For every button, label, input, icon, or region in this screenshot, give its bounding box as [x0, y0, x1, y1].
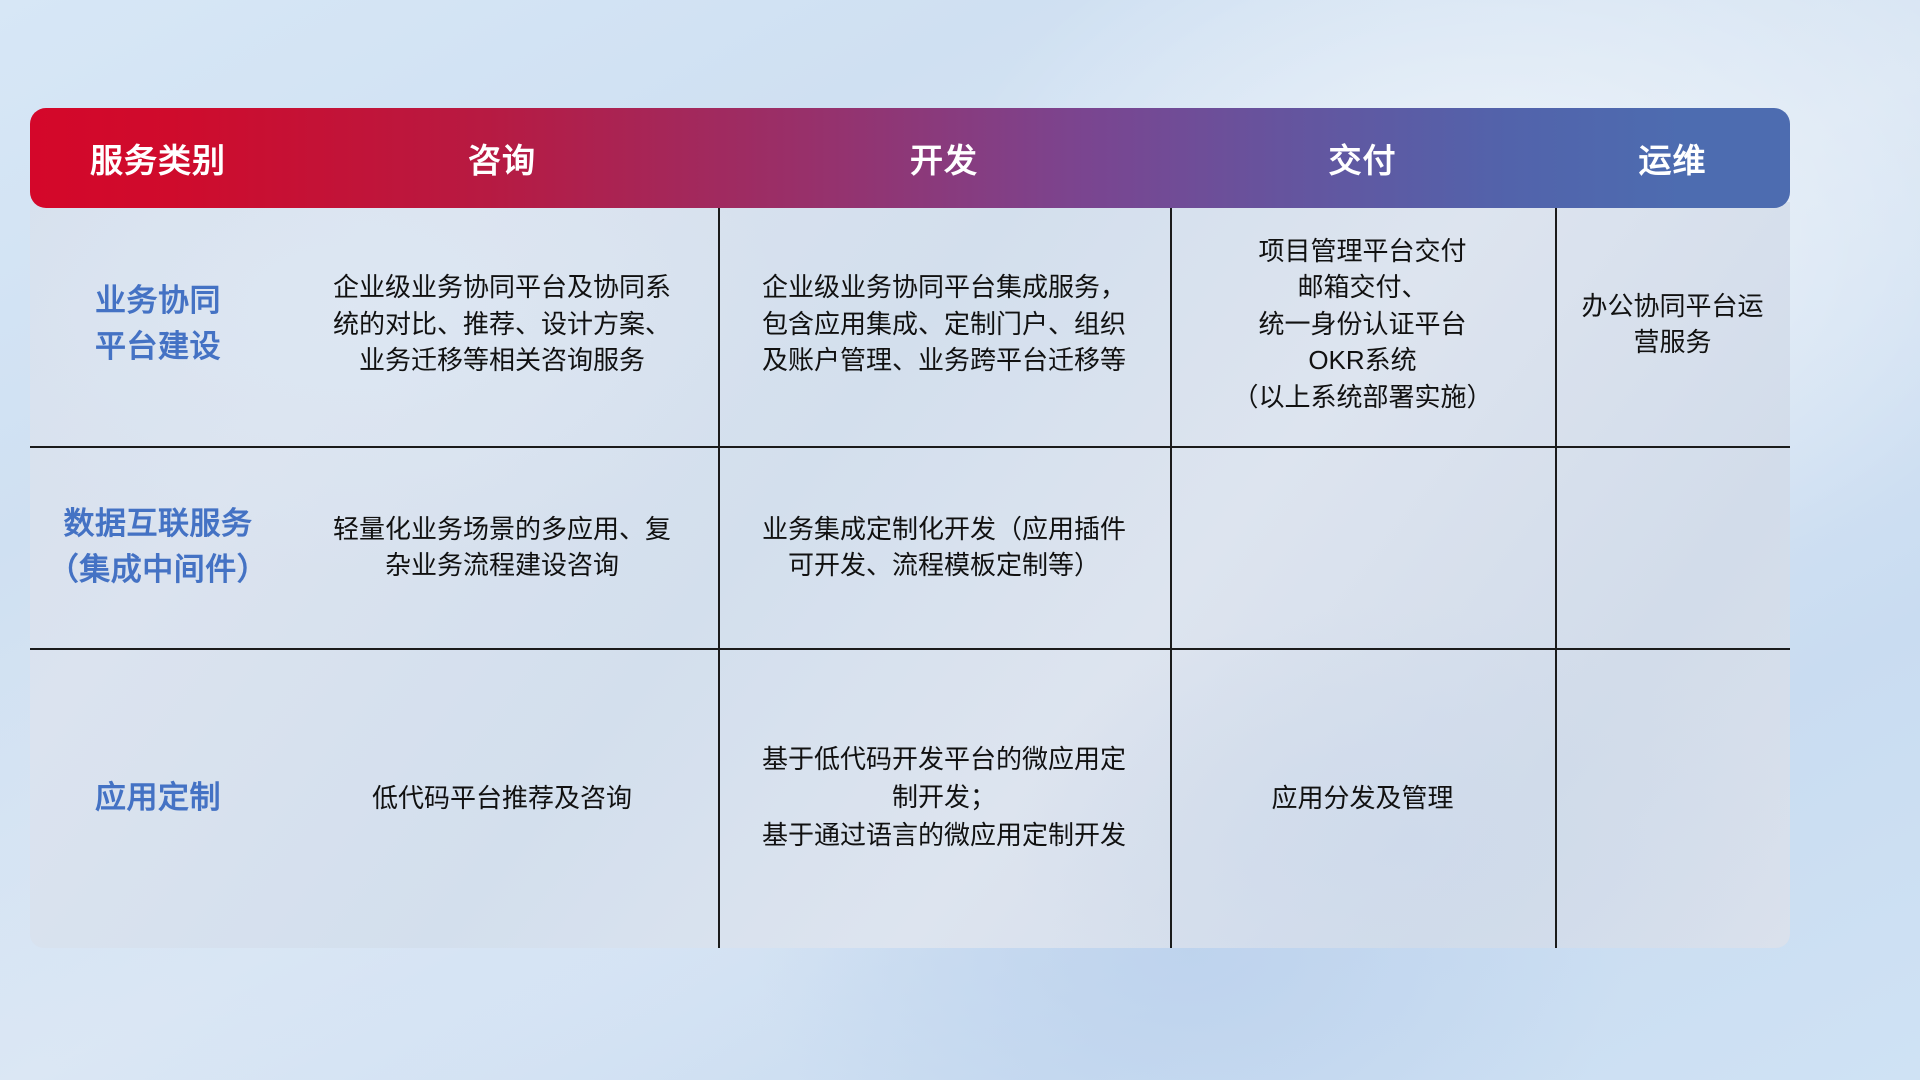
- cell-text: 低代码平台推荐及咨询: [372, 780, 632, 816]
- column-header-consulting: 咨询: [286, 134, 718, 182]
- row-category-label: 数据互联服务 （集成中间件）: [30, 446, 286, 648]
- cell-operations: [1555, 648, 1790, 948]
- cell-text: 应用分发及管理: [1271, 780, 1453, 816]
- cell-delivery: 项目管理平台交付 邮箱交付、 统一身份认证平台 OKR系统 （以上系统部署实施）: [1170, 202, 1555, 446]
- row-category-text: 数据互联服务 （集成中间件）: [48, 501, 269, 593]
- cell-text: 轻量化业务场景的多应用、复 杂业务流程建设咨询: [333, 511, 671, 584]
- table-row: 数据互联服务 （集成中间件） 轻量化业务场景的多应用、复 杂业务流程建设咨询 业…: [30, 446, 1790, 648]
- column-header-operations: 运维: [1555, 134, 1790, 182]
- cell-text: 基于低代码开发平台的微应用定 制开发； 基于通过语言的微应用定制开发: [762, 741, 1126, 855]
- table-row: 应用定制 低代码平台推荐及咨询 基于低代码开发平台的微应用定 制开发； 基于通过…: [30, 648, 1790, 948]
- cell-operations: [1555, 446, 1790, 648]
- column-header-service-category: 服务类别: [30, 134, 286, 182]
- row-category-label: 应用定制: [30, 648, 286, 948]
- column-divider-2: [1170, 202, 1172, 948]
- cell-delivery: 应用分发及管理: [1170, 648, 1555, 948]
- column-divider-1: [718, 202, 720, 948]
- cell-text: 业务集成定制化开发（应用插件 可开发、流程模板定制等）: [762, 511, 1126, 584]
- cell-text: 企业级业务协同平台集成服务， 包含应用集成、定制门户、组织 及账户管理、业务跨平…: [762, 269, 1126, 378]
- cell-operations: 办公协同平台运营服务: [1555, 202, 1790, 446]
- column-header-development: 开发: [718, 134, 1170, 182]
- table-body: 业务协同 平台建设 企业级业务协同平台及协同系 统的对比、推荐、设计方案、 业务…: [30, 202, 1790, 948]
- cell-delivery: [1170, 446, 1555, 648]
- cell-text: 项目管理平台交付 邮箱交付、 统一身份认证平台 OKR系统 （以上系统部署实施）: [1232, 233, 1492, 415]
- cell-development: 企业级业务协同平台集成服务， 包含应用集成、定制门户、组织 及账户管理、业务跨平…: [718, 202, 1170, 446]
- cell-consulting: 低代码平台推荐及咨询: [286, 648, 718, 948]
- row-category-text: 应用定制: [95, 775, 221, 821]
- table-header-row: 服务类别 咨询 开发 交付 运维: [30, 108, 1790, 208]
- table-row: 业务协同 平台建设 企业级业务协同平台及协同系 统的对比、推荐、设计方案、 业务…: [30, 202, 1790, 446]
- row-category-label: 业务协同 平台建设: [30, 202, 286, 446]
- service-matrix-table: 服务类别 咨询 开发 交付 运维 业务协同 平台建设 企业级业务协同平台及协同系…: [30, 108, 1790, 948]
- cell-development: 业务集成定制化开发（应用插件 可开发、流程模板定制等）: [718, 446, 1170, 648]
- row-category-text: 业务协同 平台建设: [95, 278, 221, 370]
- cell-consulting: 企业级业务协同平台及协同系 统的对比、推荐、设计方案、 业务迁移等相关咨询服务: [286, 202, 718, 446]
- cell-consulting: 轻量化业务场景的多应用、复 杂业务流程建设咨询: [286, 446, 718, 648]
- cell-development: 基于低代码开发平台的微应用定 制开发； 基于通过语言的微应用定制开发: [718, 648, 1170, 948]
- column-header-delivery: 交付: [1170, 134, 1555, 182]
- column-divider-3: [1555, 202, 1557, 948]
- cell-text: 企业级业务协同平台及协同系 统的对比、推荐、设计方案、 业务迁移等相关咨询服务: [333, 269, 671, 378]
- cell-text: 办公协同平台运营服务: [1569, 288, 1776, 361]
